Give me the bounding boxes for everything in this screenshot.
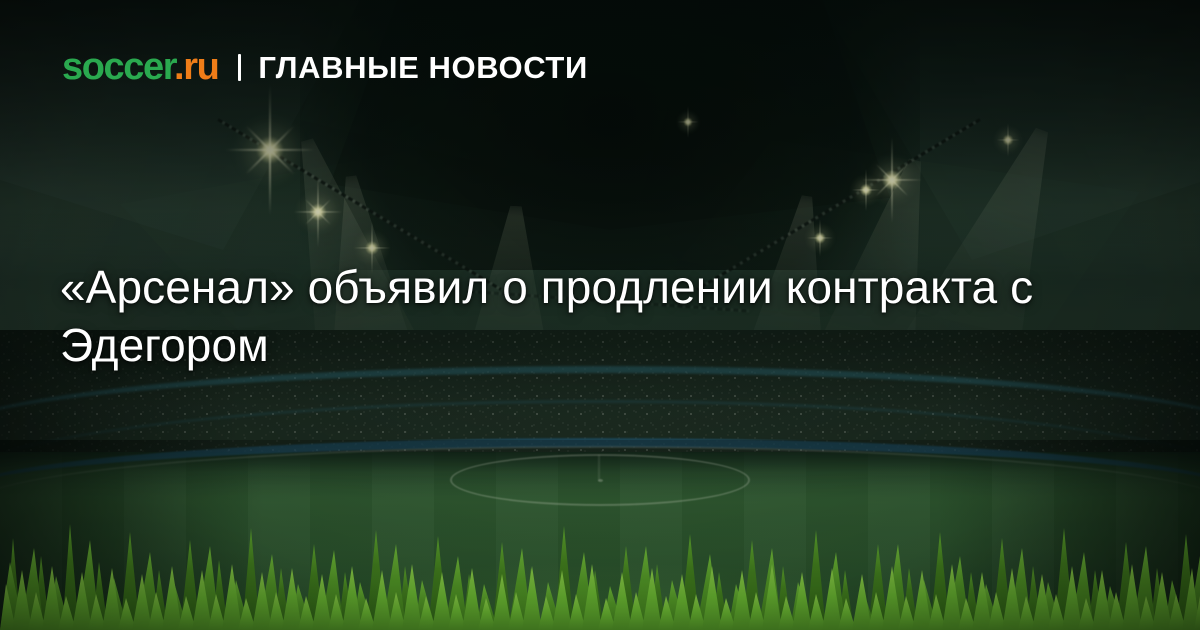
logo-name-text: soccer <box>62 46 174 88</box>
news-card: soccer.ru ГЛАВНЫЕ НОВОСТИ «Арсенал» объя… <box>0 0 1200 630</box>
site-header: soccer.ru ГЛАВНЫЕ НОВОСТИ <box>62 48 588 86</box>
logo-tld-text: .ru <box>174 46 218 88</box>
soccer-ru-logo[interactable]: soccer.ru <box>62 48 218 86</box>
article-headline: «Арсенал» объявил о продлении контракта … <box>60 258 1060 374</box>
section-title: ГЛАВНЫЕ НОВОСТИ <box>258 52 587 83</box>
foreground-grass <box>0 510 1200 630</box>
header-separator <box>238 54 241 81</box>
grass-blades-icon <box>0 510 1200 630</box>
